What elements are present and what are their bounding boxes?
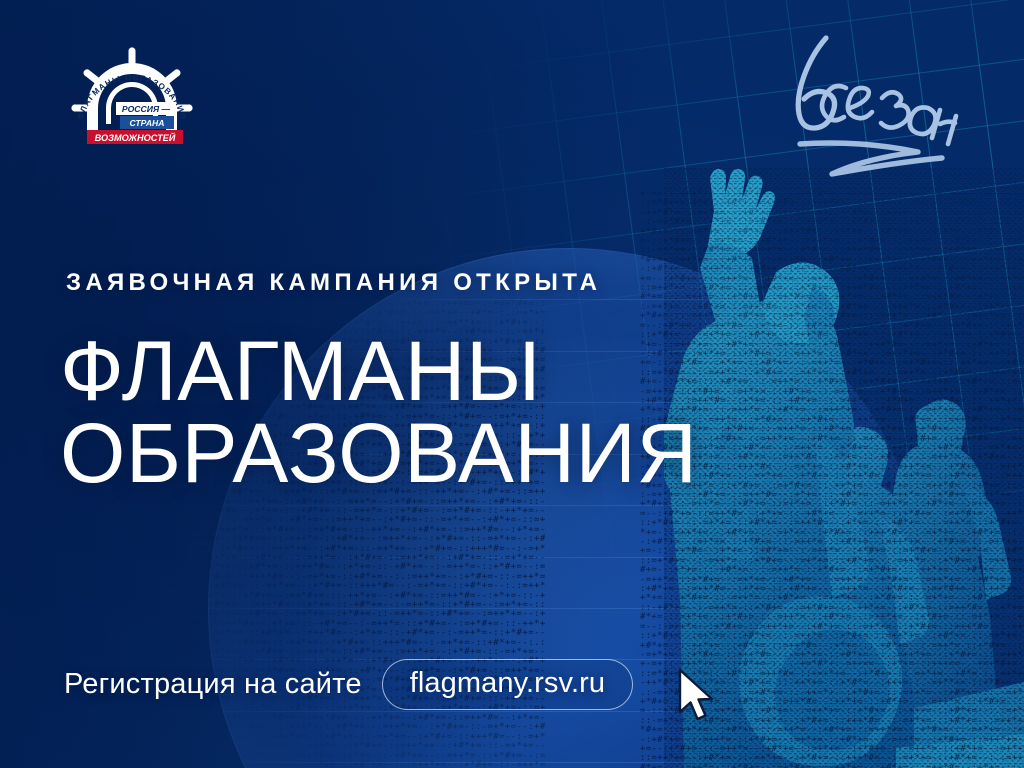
headline-line-2: ОБРАЗОВАНИЯ: [60, 412, 698, 494]
registration-row: Регистрация на сайте flagmany.rsv.ru: [64, 659, 633, 710]
campaign-kicker: ЗАЯВОЧНАЯ КАМПАНИЯ ОТКРЫТА: [66, 269, 601, 297]
registration-label: Регистрация на сайте: [64, 668, 362, 701]
rsv-flagmany-logo[interactable]: ФЛАГМАНЫ ОБРАЗОВАНИЯ РОССИЯ — СТРАНА ВОЗ…: [56, 46, 208, 156]
registration-url-pill[interactable]: flagmany.rsv.ru: [382, 659, 633, 710]
page-title: ФЛАГМАНЫ ОБРАЗОВАНИЯ: [60, 330, 698, 494]
badge-line1: РОССИЯ —: [122, 104, 171, 114]
headline-line-1: ФЛАГМАНЫ: [60, 324, 541, 418]
badge-line3: ВОЗМОЖНОСТЕЙ: [95, 132, 176, 143]
poster-canvas: +-=+::-+++*+=--::+#*+=-:. .-+=*#*+:-=++=…: [0, 0, 1024, 768]
rsv-badge: РОССИЯ — СТРАНА ВОЗМОЖНОСТЕЙ: [87, 102, 183, 144]
badge-line2: СТРАНА: [130, 118, 165, 128]
